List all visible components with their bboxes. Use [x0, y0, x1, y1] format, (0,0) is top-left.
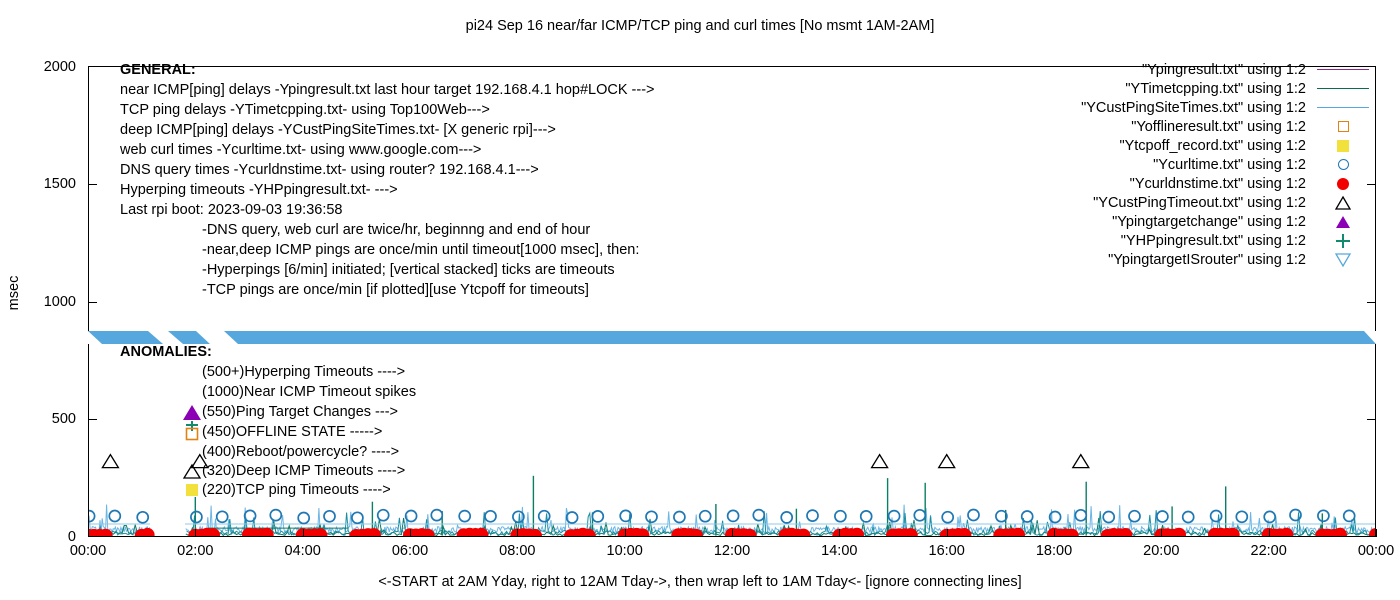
legend-label: "Ypingtargetchange" using 1:2 [1112, 214, 1306, 230]
x-tick-mark [195, 529, 196, 537]
legend-item-ycurltime[interactable]: "Ycurltime.txt" using 1:2 [1000, 155, 1376, 174]
x-tick-mark [1269, 529, 1270, 537]
legend-label: "YCustPingSiteTimes.txt" using 1:2 [1081, 100, 1306, 116]
x-tick-label: 08:00 [482, 543, 552, 559]
legend-item-ycurldnstime[interactable]: "Ycurldnstime.txt" using 1:2 [1000, 174, 1376, 193]
x-tick-label: 12:00 [697, 543, 767, 559]
anomaly-band [88, 331, 1376, 344]
legend-label: "Ytcpoff_record.txt" using 1:2 [1119, 138, 1306, 154]
y-axis-label: msec [6, 263, 22, 323]
x-tick-mark [732, 529, 733, 537]
anomaly-line: (400)Reboot/powercycle? ----> [202, 444, 416, 460]
legend-item-ypingtargetisrouter[interactable]: "YpingtargetISrouter" using 1:2 [1000, 250, 1376, 269]
x-tick-mark [1376, 529, 1377, 537]
legend-key-line [1310, 88, 1376, 89]
legend-item-ytimetcpping[interactable]: "YTimetcpping.txt" using 1:2 [1000, 79, 1376, 98]
anomalies-heading: ANOMALIES: [120, 344, 416, 360]
anomaly-line: (320)Deep ICMP Timeouts ----> [202, 463, 405, 479]
legend-item-yhppingresult[interactable]: "YHPpingresult.txt" using 1:2 [1000, 231, 1376, 250]
x-tick-mark [947, 529, 948, 537]
legend-item-yofflineresult[interactable]: "Yofflineresult.txt" using 1:2 [1000, 117, 1376, 136]
general-block: GENERAL: near ICMP[ping] delays -Ypingre… [120, 62, 655, 298]
x-tick-mark [517, 529, 518, 537]
legend: "Ypingresult.txt" using 1:2 "YTimetcppin… [1000, 60, 1376, 269]
general-note: -Hyperpings [6/min] initiated; [vertical… [202, 262, 655, 278]
x-tick-label: 22:00 [1234, 543, 1304, 559]
legend-key-circle-open-icon [1310, 159, 1376, 170]
x-tick-label: 10:00 [590, 543, 660, 559]
y-tick-label-2000: 2000 [14, 59, 76, 75]
legend-key-square-open-icon [1310, 121, 1376, 132]
x-tick-label: 20:00 [1126, 543, 1196, 559]
legend-key-triangle-open-icon [1310, 196, 1376, 210]
anomaly-line: (550)Ping Target Changes ---> [202, 404, 398, 420]
x-tick-mark [88, 529, 89, 537]
legend-label: "Ycurltime.txt" using 1:2 [1153, 157, 1306, 173]
x-tick-mark [839, 529, 840, 537]
y-tick-label-1500: 1500 [14, 176, 76, 192]
legend-key-plus-icon [1310, 234, 1376, 248]
general-line: near ICMP[ping] delays -Ypingresult.txt … [120, 82, 655, 98]
x-tick-label: 16:00 [912, 543, 982, 559]
legend-item-ypingresult[interactable]: "Ypingresult.txt" using 1:2 [1000, 60, 1376, 79]
y-tick-label-1000: 1000 [14, 294, 76, 310]
general-note: -near,deep ICMP pings are once/min until… [202, 242, 655, 258]
x-tick-mark [1161, 529, 1162, 537]
legend-label: "YTimetcpping.txt" using 1:2 [1125, 81, 1306, 97]
square-open-icon [182, 422, 202, 442]
legend-key-triangle-filled-icon [1310, 215, 1376, 229]
x-axis-label: <-START at 2AM Yday, right to 12AM Tday-… [0, 574, 1400, 590]
x-tick-mark [625, 529, 626, 537]
x-tick-mark [1054, 529, 1055, 537]
x-tick-label: 02:00 [160, 543, 230, 559]
legend-key-circle-filled-icon [1310, 178, 1376, 190]
legend-item-ycustpingsitetimes[interactable]: "YCustPingSiteTimes.txt" using 1:2 [1000, 98, 1376, 117]
triangle-filled-icon [182, 405, 202, 420]
legend-label: "YCustPingTimeout.txt" using 1:2 [1093, 195, 1306, 211]
y-tick-label-500: 500 [14, 411, 76, 427]
legend-item-ytcpoff-record[interactable]: "Ytcpoff_record.txt" using 1:2 [1000, 136, 1376, 155]
general-line: TCP ping delays -YTimetcpping.txt- using… [120, 102, 655, 118]
square-filled-icon [182, 484, 202, 496]
legend-label: "Ypingresult.txt" using 1:2 [1142, 62, 1306, 78]
legend-key-line [1310, 69, 1376, 70]
anomaly-line: (450)OFFLINE STATE -----> [202, 424, 382, 440]
legend-key-square-filled-icon [1310, 140, 1376, 152]
legend-key-line [1310, 107, 1376, 108]
x-tick-label: 00:00 [1341, 543, 1400, 559]
x-tick-label: 06:00 [375, 543, 445, 559]
anomaly-line: (500+)Hyperping Timeouts ----> [202, 364, 416, 380]
anomalies-block: ANOMALIES: (500+)Hyperping Timeouts ----… [120, 344, 416, 498]
general-note: -DNS query, web curl are twice/hr, begin… [202, 222, 655, 238]
legend-item-ypingtargetchange[interactable]: "Ypingtargetchange" using 1:2 [1000, 212, 1376, 231]
anomaly-line: (1000)Near ICMP Timeout spikes [202, 384, 416, 400]
legend-key-triangle-down-open-icon [1310, 253, 1376, 267]
general-line: DNS query times -Ycurldnstime.txt- using… [120, 162, 655, 178]
general-line: Last rpi boot: 2023-09-03 19:36:58 [120, 202, 655, 218]
x-tick-label: 18:00 [1019, 543, 1089, 559]
general-heading: GENERAL: [120, 62, 655, 78]
x-tick-mark [410, 529, 411, 537]
legend-item-ycustpingtimeout[interactable]: "YCustPingTimeout.txt" using 1:2 [1000, 193, 1376, 212]
legend-label: "Ycurldnstime.txt" using 1:2 [1130, 176, 1306, 192]
general-note: -TCP pings are once/min [if plotted][use… [202, 282, 655, 298]
x-tick-mark [303, 529, 304, 537]
x-tick-label: 14:00 [804, 543, 874, 559]
x-tick-label: 00:00 [53, 543, 123, 559]
general-line: Hyperping timeouts -YHPpingresult.txt- -… [120, 182, 655, 198]
general-line: deep ICMP[ping] delays -YCustPingSiteTim… [120, 122, 655, 138]
chart-title: pi24 Sep 16 near/far ICMP/TCP ping and c… [0, 18, 1400, 34]
legend-label: "Yofflineresult.txt" using 1:2 [1131, 119, 1306, 135]
anomaly-line: (220)TCP ping Timeouts ----> [202, 482, 391, 498]
legend-label: "YpingtargetISrouter" using 1:2 [1108, 252, 1306, 268]
triangle-open-icon [182, 464, 202, 479]
legend-label: "YHPpingresult.txt" using 1:2 [1121, 233, 1306, 249]
x-tick-label: 04:00 [268, 543, 338, 559]
general-line: web curl times -Ycurltime.txt- using www… [120, 142, 655, 158]
